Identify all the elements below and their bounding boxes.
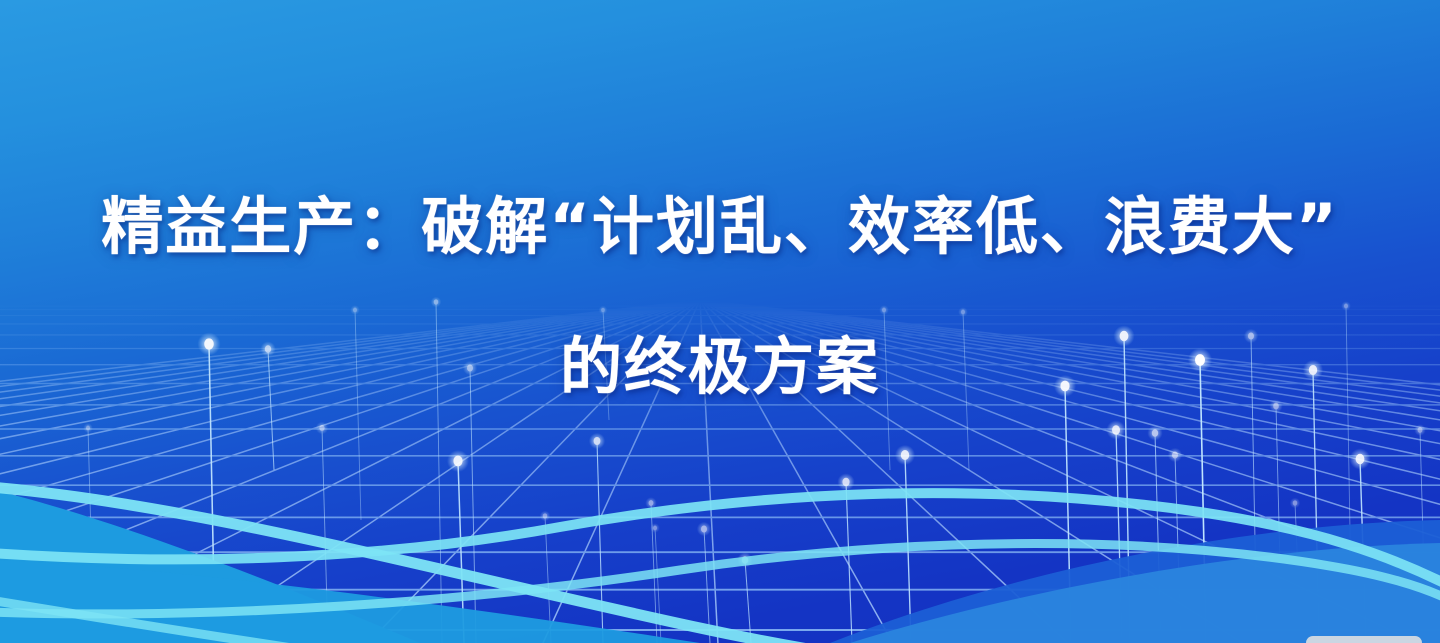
- bottom-right-chip[interactable]: [1306, 636, 1422, 643]
- title-slide: 精益生产：破解“计划乱、效率低、浪费大” 的终极方案: [0, 0, 1440, 643]
- wave-ribbons: [0, 0, 1440, 643]
